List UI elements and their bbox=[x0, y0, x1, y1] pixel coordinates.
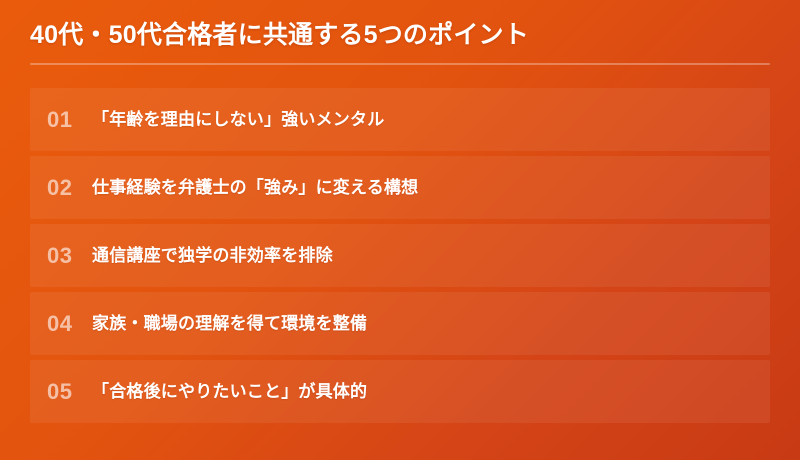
point-text: 「合格後にやりたいこと」が具体的 bbox=[92, 380, 770, 404]
point-text: 通信講座で独学の非効率を排除 bbox=[92, 244, 770, 268]
list-item: 01 「年齢を理由にしない」強いメンタル bbox=[30, 88, 770, 151]
point-number: 01 bbox=[47, 109, 92, 131]
point-text: 家族・職場の理解を得て環境を整備 bbox=[92, 312, 770, 336]
point-number: 02 bbox=[47, 177, 92, 199]
list-item: 03 通信講座で独学の非効率を排除 bbox=[30, 224, 770, 287]
list-item: 04 家族・職場の理解を得て環境を整備 bbox=[30, 292, 770, 355]
title-divider bbox=[30, 63, 770, 65]
point-text: 仕事経験を弁護士の「強み」に変える構想 bbox=[92, 176, 770, 200]
page-title: 40代・50代合格者に共通する5つのポイント bbox=[30, 18, 770, 52]
title-block: 40代・50代合格者に共通する5つのポイント bbox=[30, 18, 770, 52]
point-number: 04 bbox=[47, 313, 92, 335]
point-text: 「年齢を理由にしない」強いメンタル bbox=[92, 108, 770, 132]
list-item: 02 仕事経験を弁護士の「強み」に変える構想 bbox=[30, 156, 770, 219]
list-item: 05 「合格後にやりたいこと」が具体的 bbox=[30, 360, 770, 423]
point-number: 03 bbox=[47, 245, 92, 267]
points-list: 01 「年齢を理由にしない」強いメンタル 02 仕事経験を弁護士の「強み」に変え… bbox=[30, 88, 770, 423]
point-number: 05 bbox=[47, 381, 92, 403]
slide-canvas: 40代・50代合格者に共通する5つのポイント 01 「年齢を理由にしない」強いメ… bbox=[0, 0, 800, 460]
